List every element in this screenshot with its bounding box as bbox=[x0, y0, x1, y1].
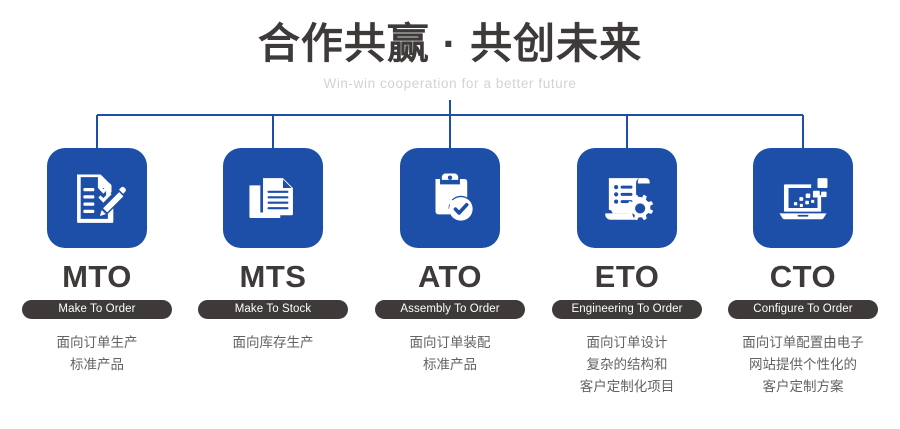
card-badge-cto: Configure To Order bbox=[728, 300, 878, 319]
desc-line: 客户定制化项目 bbox=[580, 376, 675, 398]
header: 合作共赢 · 共创未来 Win-win cooperation for a be… bbox=[0, 18, 900, 92]
card-code-ato: ATO bbox=[418, 260, 482, 294]
card-badge-mto: Make To Order bbox=[22, 300, 172, 319]
card-desc-cto: 面向订单配置由电子 网站提供个性化的 客户定制方案 bbox=[742, 332, 864, 398]
card-badge-ato: Assembly To Order bbox=[375, 300, 525, 319]
icon-tile-mto[interactable] bbox=[47, 148, 147, 248]
card-badge-eto: Engineering To Order bbox=[552, 300, 702, 319]
card-code-mts: MTS bbox=[240, 260, 307, 294]
card-code-cto: CTO bbox=[770, 260, 836, 294]
document-gear-icon bbox=[598, 169, 656, 227]
clipboard-check-icon bbox=[421, 169, 479, 227]
document-checklist-pencil-icon bbox=[68, 169, 126, 227]
desc-line: 标准产品 bbox=[410, 354, 491, 376]
laptop-modules-icon bbox=[774, 169, 832, 227]
card-code-eto: ETO bbox=[595, 260, 660, 294]
desc-line: 面向订单生产 bbox=[57, 332, 138, 354]
card-desc-mto: 面向订单生产 标准产品 bbox=[57, 332, 138, 376]
desc-line: 客户定制方案 bbox=[742, 376, 864, 398]
icon-tile-mts[interactable] bbox=[223, 148, 323, 248]
page-title: 合作共赢 · 共创未来 bbox=[0, 18, 900, 70]
desc-line: 网站提供个性化的 bbox=[742, 354, 864, 376]
icon-tile-ato[interactable] bbox=[400, 148, 500, 248]
card-badge-mts: Make To Stock bbox=[198, 300, 348, 319]
card-ato[interactable]: ATO Assembly To Order 面向订单装配 标准产品 bbox=[362, 148, 538, 376]
connector-tree bbox=[0, 100, 900, 152]
connector-lines-svg bbox=[0, 100, 900, 152]
desc-line: 面向订单配置由电子 bbox=[742, 332, 864, 354]
icon-tile-eto[interactable] bbox=[577, 148, 677, 248]
card-code-mto: MTO bbox=[62, 260, 132, 294]
card-eto[interactable]: ETO Engineering To Order 面向订单设计 复杂的结构和 客… bbox=[539, 148, 715, 398]
card-desc-mts: 面向库存生产 bbox=[233, 332, 314, 354]
desc-line: 标准产品 bbox=[57, 354, 138, 376]
page-subtitle: Win-win cooperation for a better future bbox=[0, 76, 900, 92]
stacked-documents-icon bbox=[244, 169, 302, 227]
icon-tile-cto[interactable] bbox=[753, 148, 853, 248]
desc-line: 面向订单设计 bbox=[580, 332, 675, 354]
infographic-root: 合作共赢 · 共创未来 Win-win cooperation for a be… bbox=[0, 0, 900, 429]
card-desc-ato: 面向订单装配 标准产品 bbox=[410, 332, 491, 376]
desc-line: 面向库存生产 bbox=[233, 332, 314, 354]
card-mts[interactable]: MTS Make To Stock 面向库存生产 bbox=[185, 148, 361, 354]
card-cto[interactable]: CTO Configure To Order 面向订单配置由电子 网站提供个性化… bbox=[715, 148, 891, 398]
desc-line: 复杂的结构和 bbox=[580, 354, 675, 376]
cards-row: MTO Make To Order 面向订单生产 标准产品 bbox=[0, 148, 900, 429]
card-desc-eto: 面向订单设计 复杂的结构和 客户定制化项目 bbox=[580, 332, 675, 398]
desc-line: 面向订单装配 bbox=[410, 332, 491, 354]
card-mto[interactable]: MTO Make To Order 面向订单生产 标准产品 bbox=[9, 148, 185, 376]
